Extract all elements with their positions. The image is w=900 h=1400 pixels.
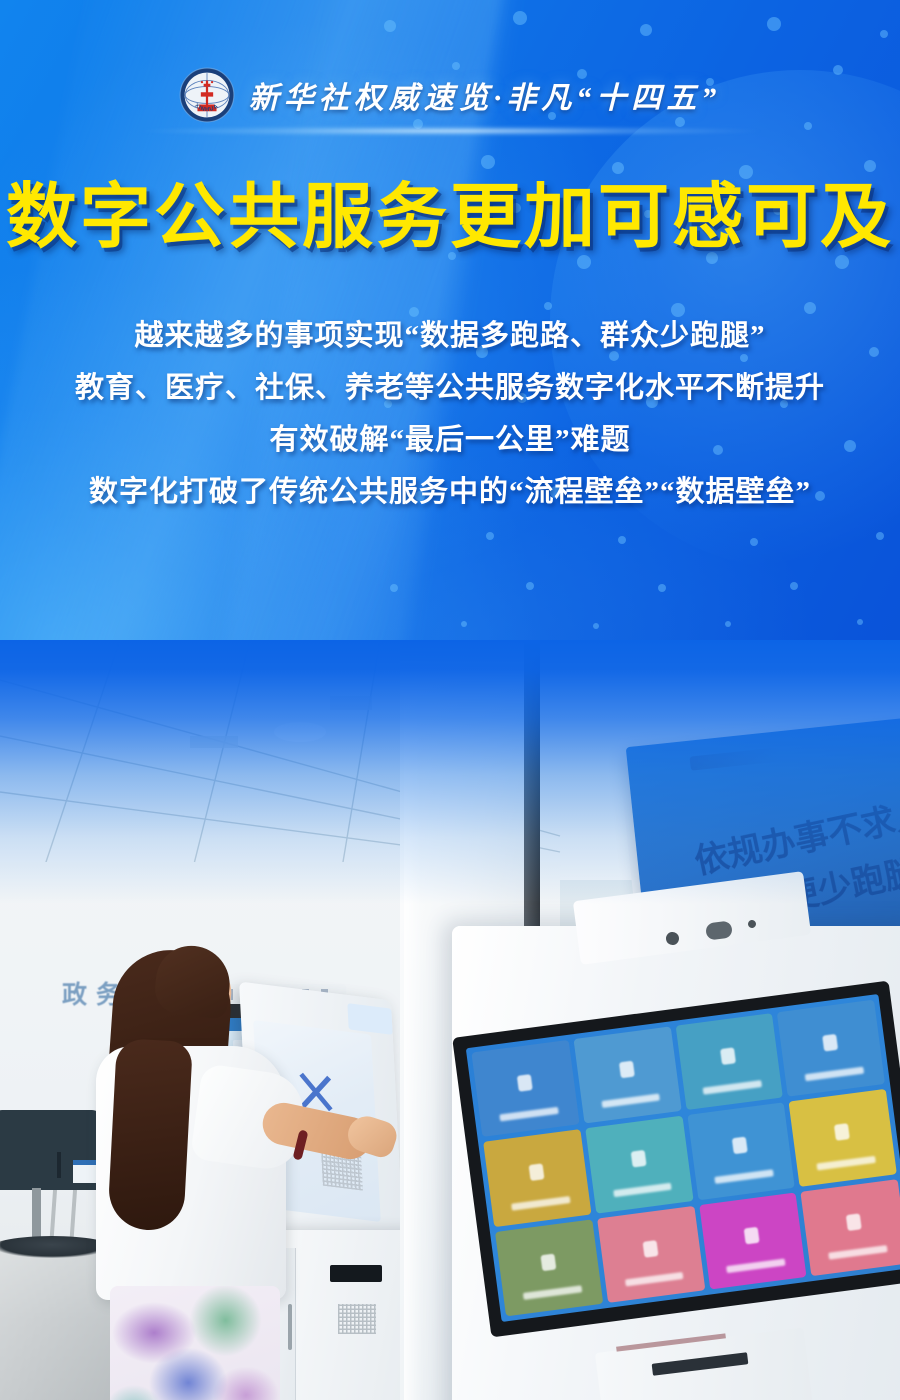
poster-root: XINHUA 新华社权威速览·非凡“十四五” 数字公共服务更加可感可及 越来越多… (0, 0, 900, 1400)
tile-icon (720, 1047, 736, 1065)
front-kiosk-vent (338, 1304, 376, 1334)
person-long-hair (107, 1038, 193, 1232)
front-kiosk-door-handle (288, 1304, 292, 1350)
tile-icon (619, 1061, 635, 1079)
tile-label (523, 1286, 582, 1301)
xinhua-news-agency-logo: XINHUA (179, 67, 235, 123)
photo-government-service-hall: 政务公开区 (0, 640, 900, 1400)
desk-pen (57, 1152, 61, 1178)
kiosk-tile-4[interactable] (777, 1000, 885, 1097)
body-line-4: 数字化打破了传统公共服务中的“流程壁垒”“数据壁垒” (0, 466, 900, 518)
tile-label (817, 1156, 876, 1171)
tile-label (727, 1259, 786, 1274)
tile-icon (744, 1226, 760, 1244)
front-kiosk-badge (347, 1003, 392, 1035)
kiosk-tile-7[interactable] (687, 1103, 795, 1200)
body-line-2: 教育、医疗、社保、养老等公共服务数字化水平不断提升 (0, 362, 900, 414)
kiosk-tile-2[interactable] (573, 1026, 681, 1123)
photo-top-gradient-fade (0, 640, 900, 940)
tile-icon (540, 1253, 556, 1271)
kiosk-tile-9[interactable] (495, 1219, 603, 1316)
tile-icon (846, 1213, 862, 1231)
office-chair-stem (32, 1188, 41, 1242)
tile-icon (630, 1150, 646, 1168)
tile-label (499, 1107, 558, 1122)
kiosk-tile-1[interactable] (471, 1040, 579, 1137)
tile-label (828, 1245, 887, 1260)
tile-label (613, 1183, 672, 1198)
main-kiosk-touchscreen[interactable] (466, 994, 900, 1322)
tile-label (625, 1272, 684, 1287)
front-kiosk-print-slot (330, 1265, 382, 1282)
tile-label (511, 1196, 570, 1211)
tile-label (601, 1093, 660, 1108)
body-line-3: 有效破解“最后一公里”难题 (0, 414, 900, 466)
tile-icon (642, 1240, 658, 1258)
publisher-header-text: 新华社权威速览·非凡“十四五” (249, 73, 722, 117)
tile-icon (732, 1137, 748, 1155)
tile-label (805, 1066, 864, 1081)
main-kiosk-tile-grid[interactable] (466, 994, 900, 1322)
person-tie-dye-skirt (110, 1286, 280, 1400)
body-text-block: 越来越多的事项实现“数据多跑路、群众少跑腿” 教育、医疗、社保、养老等公共服务数… (0, 310, 900, 518)
kiosk-tile-12[interactable] (801, 1179, 900, 1276)
kiosk-tile-6[interactable] (585, 1116, 693, 1213)
kiosk-tile-5[interactable] (483, 1129, 591, 1226)
tile-icon (517, 1074, 533, 1092)
body-line-1: 越来越多的事项实现“数据多跑路、群众少跑腿” (0, 310, 900, 362)
publisher-header: XINHUA 新华社权威速览·非凡“十四五” (0, 58, 900, 132)
tile-label (715, 1169, 774, 1184)
kiosk-tile-11[interactable] (699, 1192, 807, 1289)
tile-label (703, 1080, 762, 1095)
kiosk-tile-8[interactable] (789, 1089, 897, 1186)
tile-icon (528, 1164, 544, 1182)
kiosk-tile-10[interactable] (597, 1206, 705, 1303)
page-title: 数字公共服务更加可感可及 (0, 183, 900, 254)
tile-icon (834, 1123, 850, 1141)
kiosk-tile-3[interactable] (675, 1013, 783, 1110)
tile-icon (822, 1034, 838, 1052)
